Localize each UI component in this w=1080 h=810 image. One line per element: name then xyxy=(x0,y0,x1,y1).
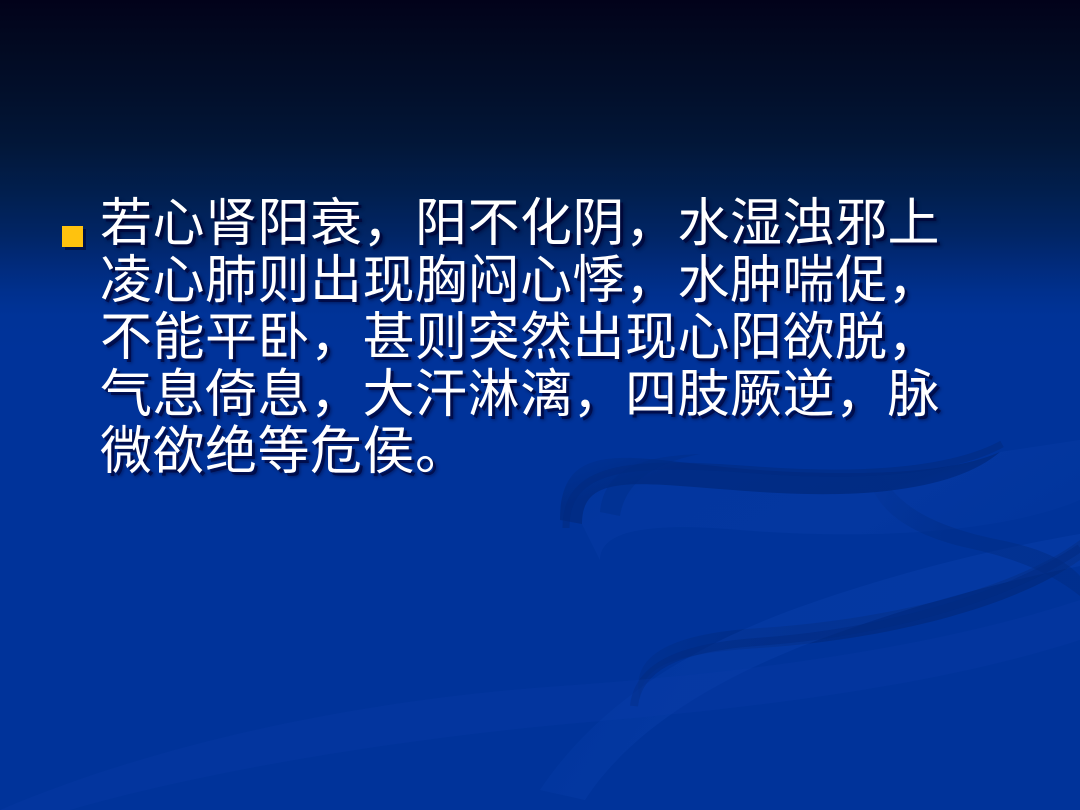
paragraph-line-2: 凌心肺则出现胸闷心悸，水肿喘促， xyxy=(100,253,1022,310)
paragraph-line-4: 气息倚息，大汗淋漓，四肢厥逆，脉 xyxy=(100,367,1022,424)
bullet-paragraph: 若心肾阳衰，阳不化阴，水湿浊邪上 凌心肺则出现胸闷心悸，水肿喘促， 不能平卧，甚… xyxy=(100,196,1022,481)
presentation-slide: 若心肾阳衰，阳不化阴，水湿浊邪上 凌心肺则出现胸闷心悸，水肿喘促， 不能平卧，甚… xyxy=(0,0,1080,810)
square-bullet-icon xyxy=(62,226,83,247)
paragraph-line-1: 若心肾阳衰，阳不化阴，水湿浊邪上 xyxy=(100,196,1022,253)
bullet-list-item: 若心肾阳衰，阳不化阴，水湿浊邪上 凌心肺则出现胸闷心悸，水肿喘促， 不能平卧，甚… xyxy=(62,196,1022,481)
slide-content-area: 若心肾阳衰，阳不化阴，水湿浊邪上 凌心肺则出现胸闷心悸，水肿喘促， 不能平卧，甚… xyxy=(0,0,1080,810)
paragraph-line-5: 微欲绝等危侯。 xyxy=(100,424,1022,481)
paragraph-line-3: 不能平卧，甚则突然出现心阳欲脱， xyxy=(100,310,1022,367)
